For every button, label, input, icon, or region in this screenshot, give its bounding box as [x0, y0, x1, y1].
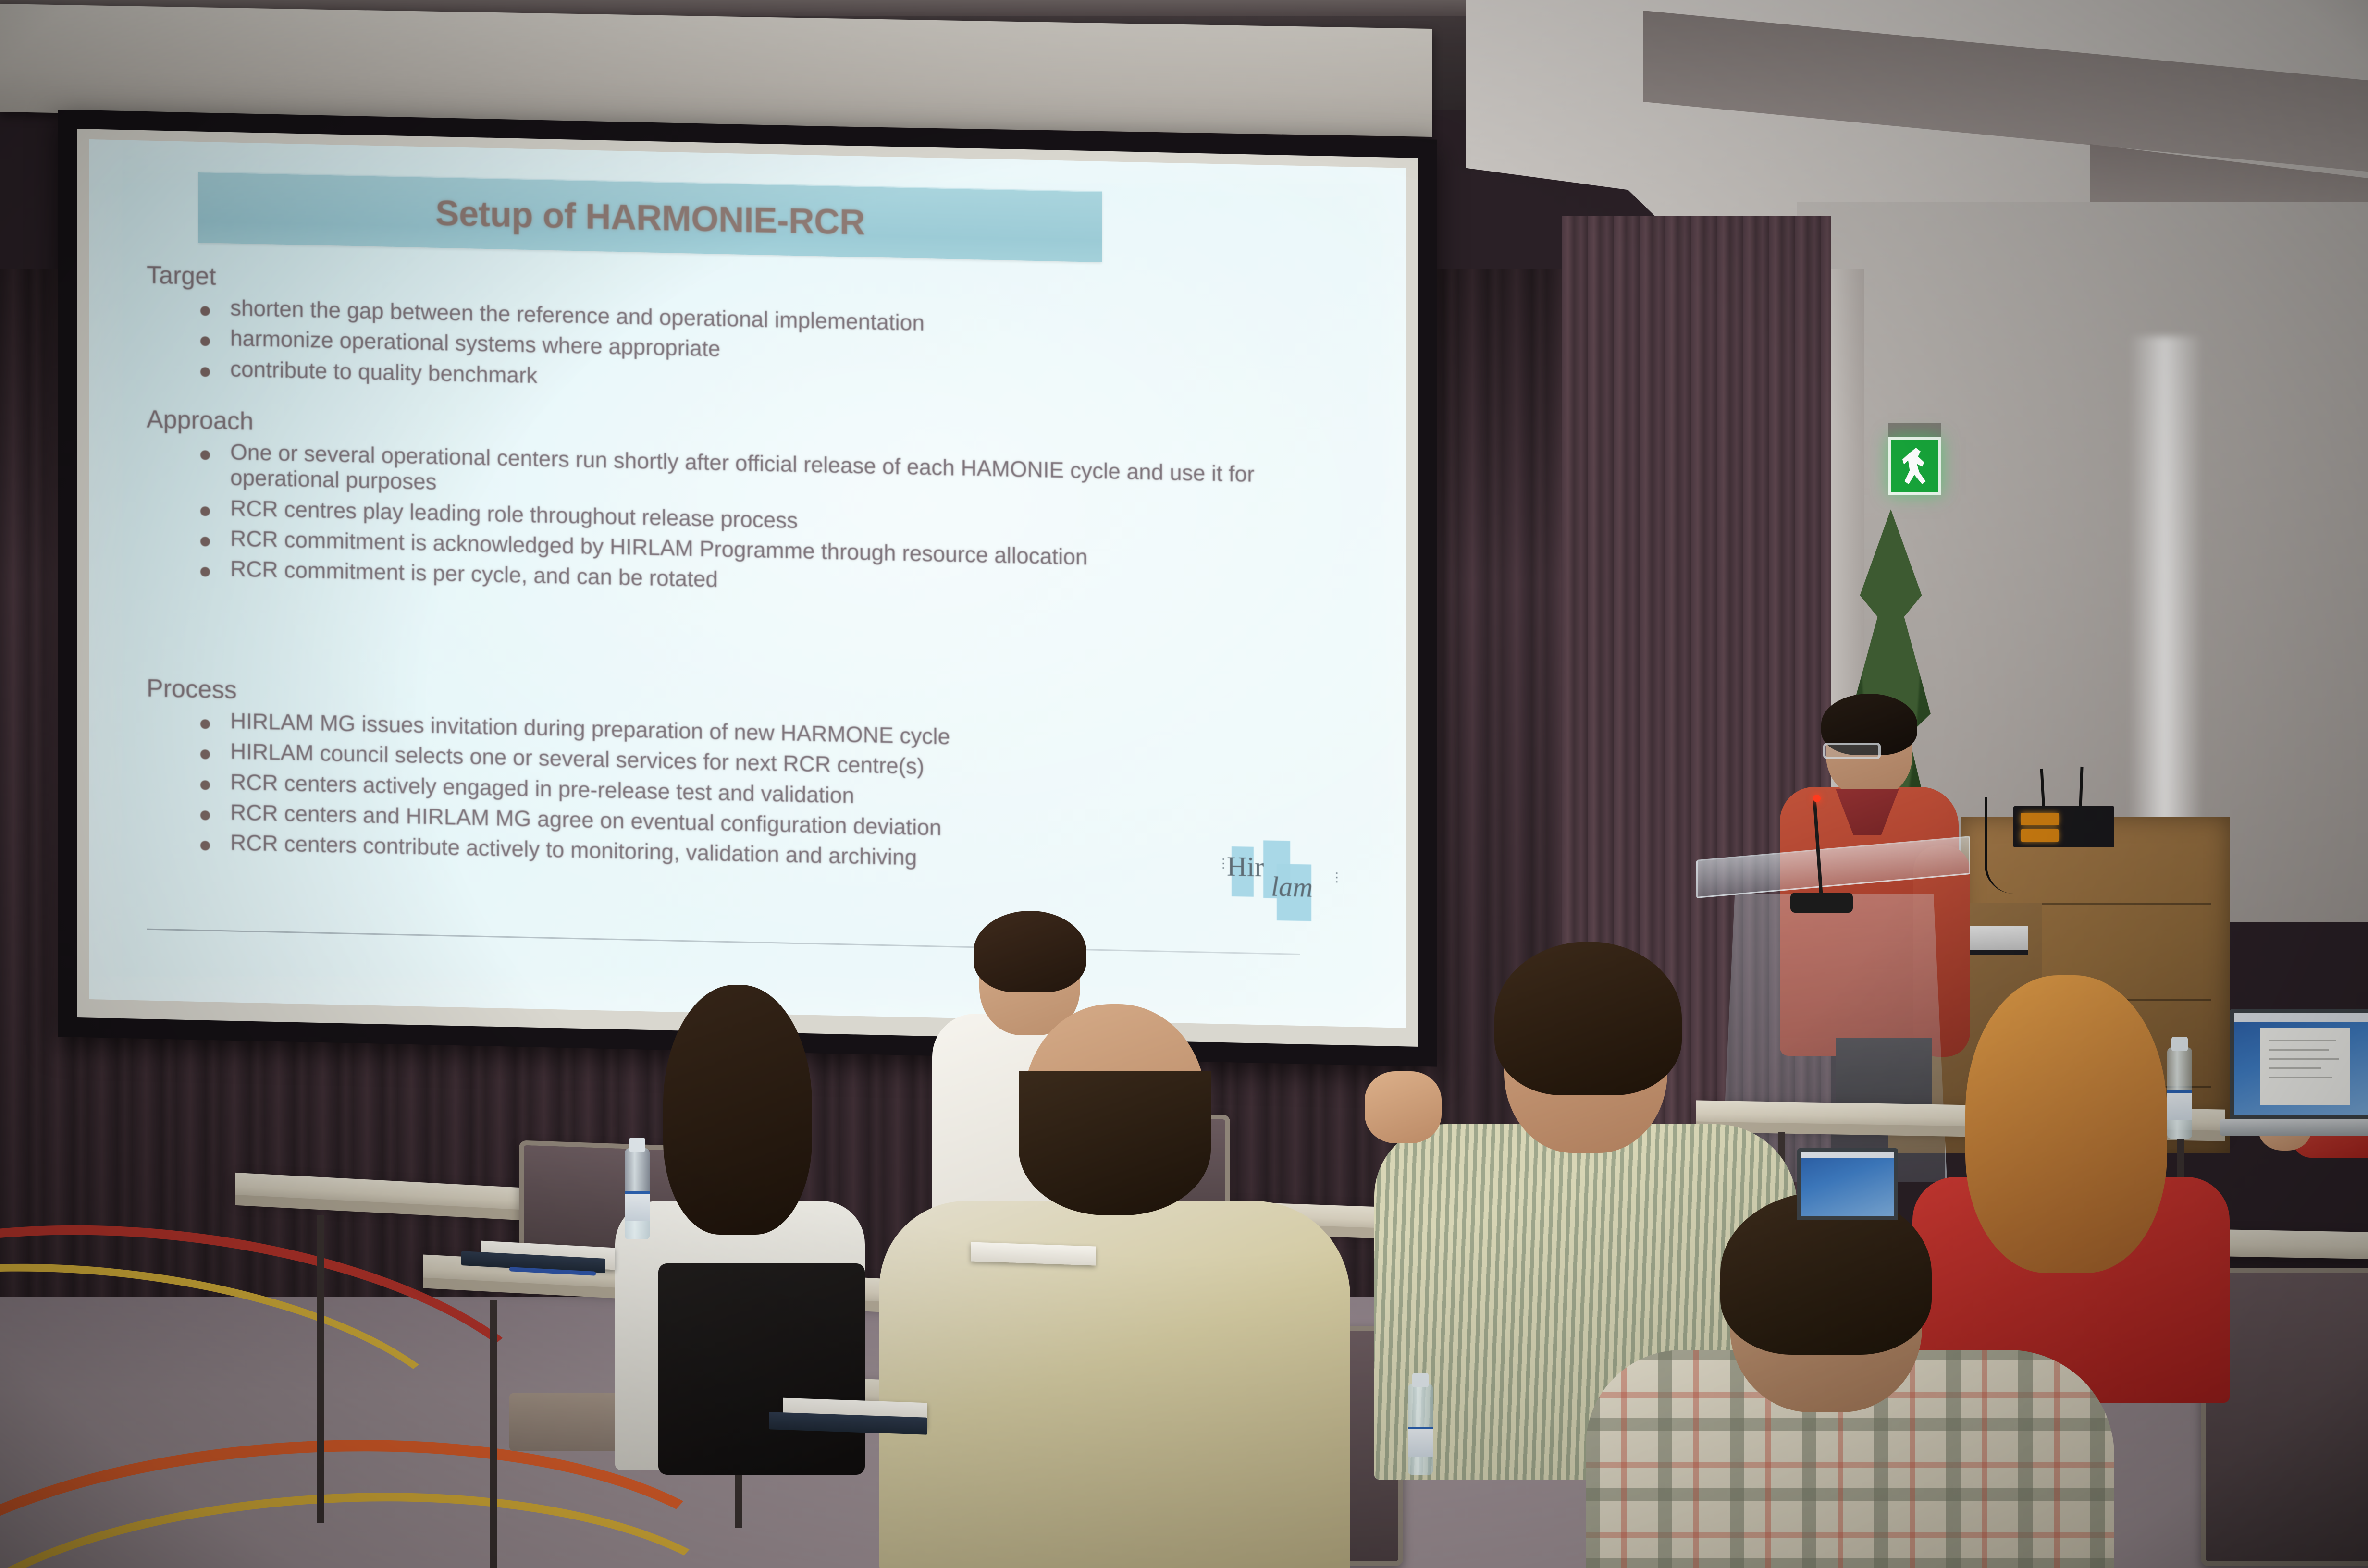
- bottle-label: [2167, 1090, 2192, 1120]
- laptop-screen: [2234, 1013, 2368, 1115]
- window-light: [2129, 336, 2201, 889]
- laptop-titlebar: [2234, 1013, 2368, 1022]
- attendee-plaid-shirt: [1586, 1191, 2114, 1568]
- table-leg: [490, 1300, 497, 1568]
- bottle-label: [625, 1191, 650, 1221]
- running-figure-icon: [1902, 448, 1928, 484]
- bullet-list: HIRLAM MG issues invitation during prepa…: [193, 708, 1357, 881]
- slide-section-approach: Approach One or several operational cent…: [147, 405, 1357, 612]
- laptop-center: [1797, 1148, 1898, 1220]
- exit-sign-mount: [1888, 423, 1941, 439]
- conference-room-photo: Setup of HARMONIE-RCR Target shorten the…: [0, 0, 2368, 1568]
- presentation-slide: Setup of HARMONIE-RCR Target shorten the…: [89, 139, 1406, 1028]
- laptop-screen: [1801, 1152, 1894, 1216]
- slide-title-band: Setup of HARMONIE-RCR: [198, 171, 1102, 262]
- cable: [1985, 797, 2028, 894]
- hair: [1019, 1071, 1211, 1215]
- torso: [879, 1201, 1350, 1568]
- slide-section-target: Target shorten the gap between the refer…: [147, 261, 1357, 411]
- laptop-base: [2220, 1119, 2368, 1136]
- hirlam-logo-text-1: Hir: [1227, 850, 1264, 883]
- laptop-document: [2260, 1028, 2350, 1105]
- table-leg: [317, 1215, 324, 1523]
- microphone-led-icon: [1813, 795, 1821, 802]
- bottle-cap: [629, 1138, 645, 1152]
- attendee-bald-foreground: [879, 999, 1360, 1568]
- jacket-on-chair: [658, 1263, 865, 1475]
- hair: [974, 911, 1086, 992]
- emergency-exit-icon: [1888, 437, 1941, 495]
- bottle-cap: [2171, 1037, 2188, 1051]
- clasped-hands: [1365, 1071, 1442, 1143]
- laptop-right: [2230, 1009, 2368, 1119]
- slide-title: Setup of HARMONIE-RCR: [198, 172, 1102, 262]
- attendee-dark-hair-woman: [615, 980, 870, 1460]
- hirlam-logo-text-2: lam: [1271, 870, 1313, 904]
- bottle-cap: [1412, 1373, 1429, 1387]
- eyeglasses-icon: [1823, 743, 1881, 759]
- hair: [663, 985, 812, 1235]
- hirlam-logo: Hir lam ⋮ ⋮: [1209, 842, 1354, 946]
- hair: [1494, 942, 1682, 1095]
- laptop-titlebar: [1801, 1152, 1894, 1158]
- slide-section-process: Process HIRLAM MG issues invitation duri…: [147, 674, 1357, 885]
- bullet-list: One or several operational centers run s…: [193, 439, 1357, 607]
- microphone-base: [1790, 893, 1853, 913]
- bottle-label: [1408, 1427, 1433, 1457]
